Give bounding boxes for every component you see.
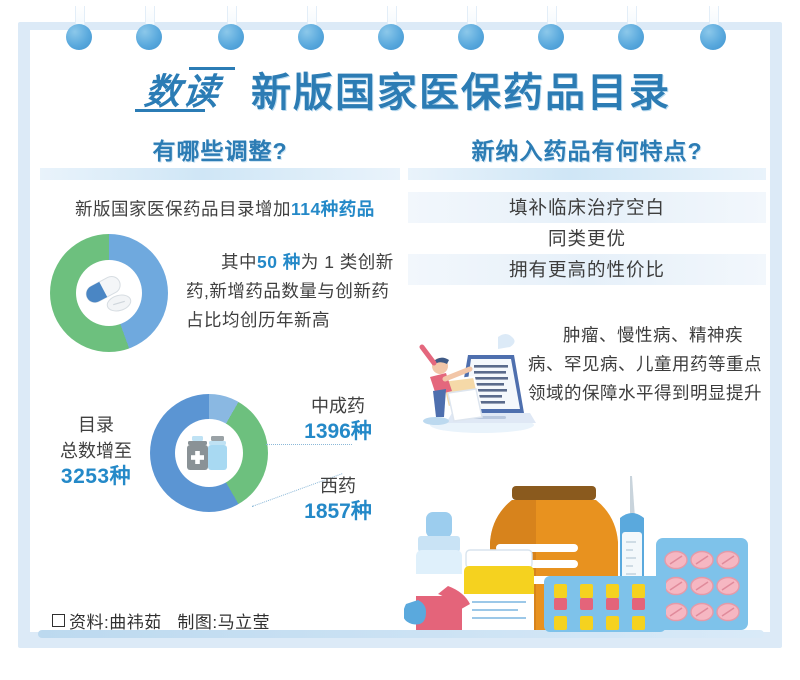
mid-prefix: 其中 xyxy=(221,252,257,272)
segment-label-xiyao: 西药 1857种 xyxy=(276,474,400,524)
feature-list: 填补临床治疗空白 同类更优 拥有更高的性价比 xyxy=(408,192,766,285)
segment-name: 西药 xyxy=(320,476,356,496)
donut-chart-innovation-drugs xyxy=(50,234,168,352)
right-section-header: 新纳入药品有何特点? xyxy=(408,132,766,188)
catalog-total-line2: 总数增至 xyxy=(60,441,132,461)
binding-ring-icon xyxy=(66,6,92,52)
right-section-title: 新纳入药品有何特点? xyxy=(463,132,710,166)
binding-ring-icon xyxy=(136,6,162,52)
innovation-drug-chart-row: 其中50 种为 1 类创新药,新增药品数量与创新药占比均创历年新高 xyxy=(40,230,400,370)
person-with-laptop-document-icon xyxy=(412,321,540,437)
binding-ring-icon xyxy=(700,6,726,52)
credit-designer: 制图:马立莹 xyxy=(177,613,270,632)
donut-chart-catalog-total xyxy=(150,394,268,512)
catalog-total-label: 目录 总数增至 3253种 xyxy=(48,412,144,490)
feature-item: 拥有更高的性价比 xyxy=(408,254,766,285)
catalog-total-value: 3253种 xyxy=(48,464,144,490)
lead-prefix: 新版国家医保药品目录增加 xyxy=(75,199,291,219)
left-section-title: 有哪些调整? xyxy=(144,132,295,166)
left-section-header: 有哪些调整? xyxy=(40,132,400,188)
innovation-drug-paragraph: 其中50 种为 1 类创新药,新增药品数量与创新药占比均创历年新高 xyxy=(186,248,400,335)
masthead: 数读 新版国家医保药品目录 xyxy=(30,58,770,120)
leader-line-zhongchengyao xyxy=(266,444,352,445)
feature-item: 同类更优 xyxy=(408,223,766,254)
mid-highlight: 50 种 xyxy=(257,252,301,272)
credits: 资料:曲祎茹 制图:马立莹 xyxy=(52,608,270,633)
donut-center xyxy=(175,419,243,487)
credit-source: 资料:曲祎茹 xyxy=(69,613,162,632)
feature-item: 填补临床治疗空白 xyxy=(408,192,766,223)
binding-ring-icon xyxy=(218,6,244,52)
binding-ring-icon xyxy=(378,6,404,52)
catalog-total-chart-row: 目录 总数增至 3253种 xyxy=(40,388,400,538)
left-lead-paragraph: 新版国家医保药品目录增加114种药品 xyxy=(40,194,400,224)
segment-value: 1857种 xyxy=(276,499,400,524)
medicine-bottles-icon xyxy=(182,431,236,475)
infographic-page: 数读 新版国家医保药品目录 有哪些调整? 新版国家医保药品目录增加114种药品 xyxy=(0,0,800,680)
header-underline-bar xyxy=(40,168,400,180)
bullet-square-icon xyxy=(52,614,65,627)
medicine-bottles-syringe-pills-icon xyxy=(404,468,768,632)
brand-seal-label: 数读 xyxy=(142,63,223,115)
binding-ring-icon xyxy=(458,6,484,52)
spiral-binding xyxy=(0,0,800,60)
binding-ring-icon xyxy=(298,6,324,52)
left-column: 有哪些调整? 新版国家医保药品目录增加114种药品 其中50 种为 1 类创新药… xyxy=(40,132,400,538)
lead-highlight-count: 114 xyxy=(291,199,321,219)
seal-rule-bottom xyxy=(135,109,205,112)
page-title: 新版国家医保药品目录 xyxy=(251,60,671,118)
binding-ring-icon xyxy=(618,6,644,52)
capsule-and-tablet-icon xyxy=(83,272,135,314)
right-paragraph: 肿瘤、慢性病、精神疾病、罕见病、儿童用药等重点领域的保障水平得到明显提升 xyxy=(528,321,766,408)
brand-seal-shudu: 数读 xyxy=(129,61,237,117)
binding-ring-icon xyxy=(538,6,564,52)
right-column: 新纳入药品有何特点? 填补临床治疗空白 同类更优 拥有更高的性价比 xyxy=(408,132,766,453)
header-underline-bar xyxy=(408,168,766,180)
right-body: 肿瘤、慢性病、精神疾病、罕见病、儿童用药等重点领域的保障水平得到明显提升 xyxy=(408,303,766,453)
segment-label-zhongchengyao: 中成药 1396种 xyxy=(276,394,400,444)
segment-value: 1396种 xyxy=(276,419,400,444)
lead-highlight-unit: 种药品 xyxy=(321,199,375,219)
donut-center xyxy=(76,260,142,326)
catalog-total-line1: 目录 xyxy=(78,415,114,435)
segment-name: 中成药 xyxy=(311,396,365,416)
